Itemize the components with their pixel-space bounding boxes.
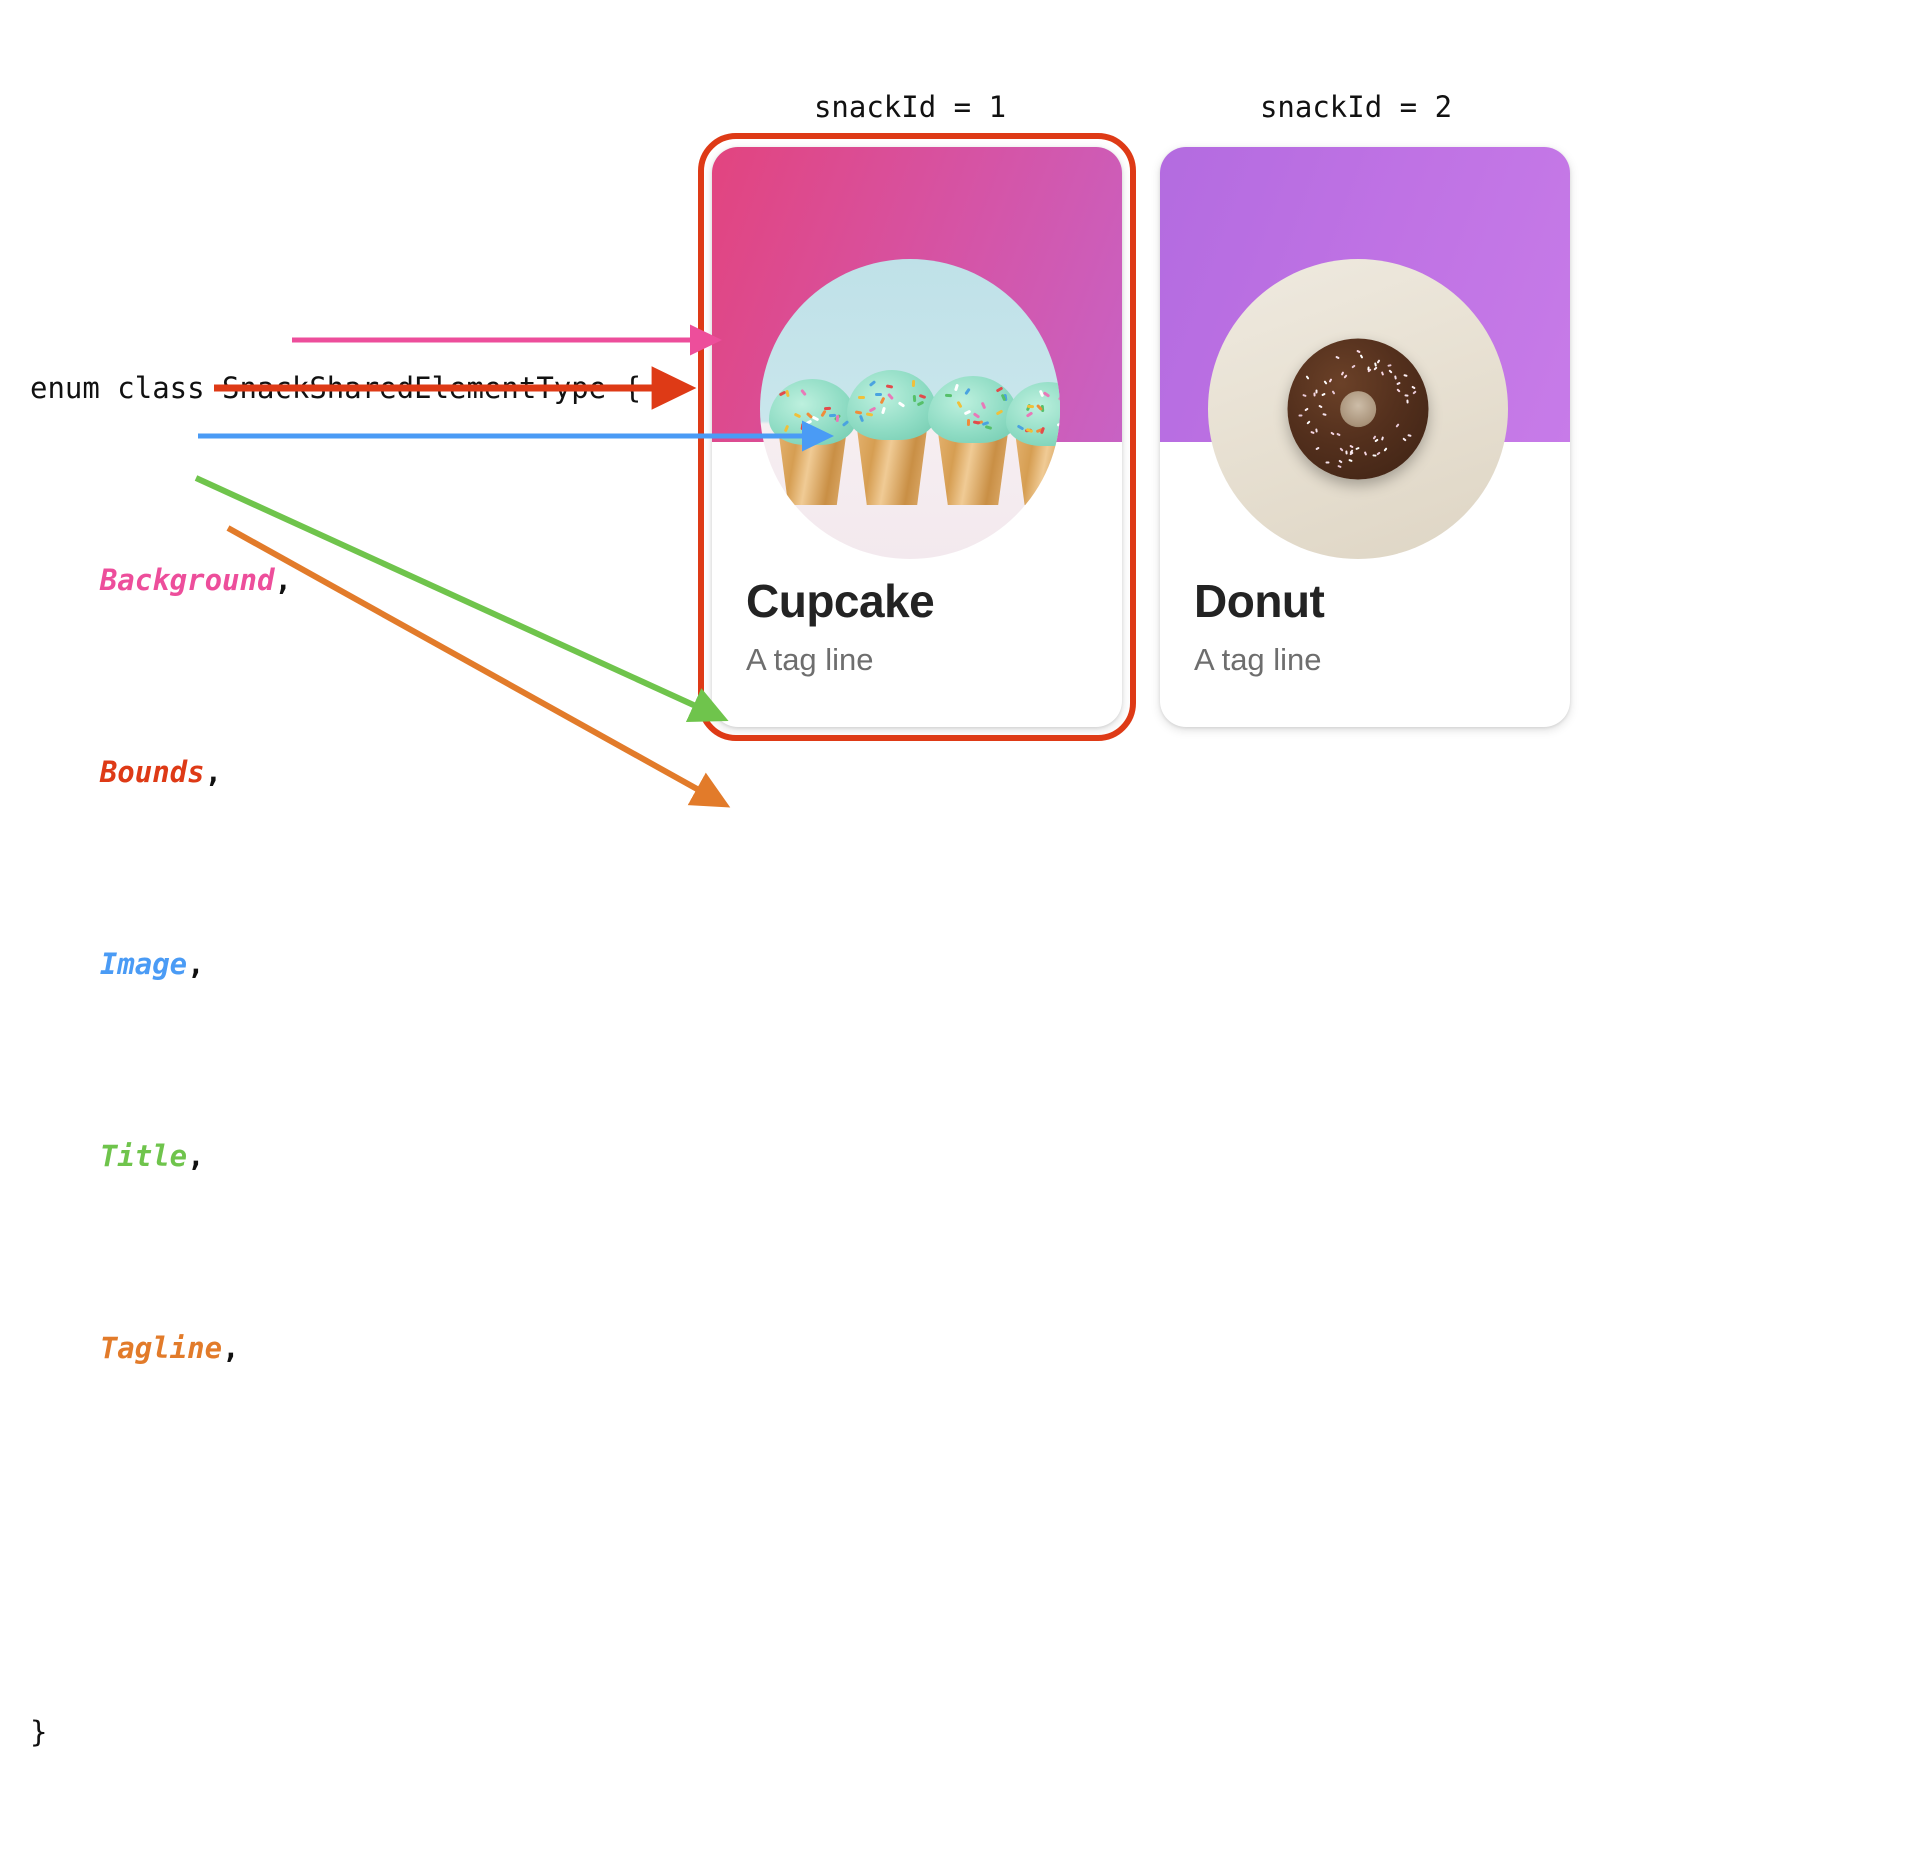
donut-hole-icon bbox=[1340, 391, 1377, 428]
code-indent bbox=[30, 1331, 100, 1365]
sprinkle-icon bbox=[1364, 452, 1367, 456]
sprinkle-icon bbox=[1306, 375, 1310, 379]
code-line-entry-bounds: Bounds, bbox=[30, 748, 641, 796]
sprinkle-icon bbox=[913, 395, 916, 402]
sprinkle-icon bbox=[1026, 428, 1034, 433]
comma-background: , bbox=[274, 563, 291, 597]
sprinkle-icon bbox=[1318, 405, 1322, 409]
sprinkle-icon bbox=[1310, 431, 1314, 434]
code-line-declaration: enum class SnackSharedElementType { bbox=[30, 364, 641, 412]
code-indent bbox=[30, 563, 100, 597]
sprinkle-icon bbox=[1315, 446, 1319, 450]
code-line-entry-title: Title, bbox=[30, 1132, 641, 1180]
sprinkle-icon bbox=[1396, 424, 1400, 428]
sprinkle-icon bbox=[1336, 433, 1340, 437]
sprinkle-icon bbox=[1406, 399, 1408, 403]
code-indent bbox=[30, 1139, 100, 1173]
sprinkle-icon bbox=[806, 427, 813, 431]
sprinkle-icon bbox=[996, 387, 1004, 393]
cupcake-frosting-icon bbox=[847, 370, 938, 440]
sprinkle-icon bbox=[957, 401, 963, 409]
enum-declaration-text: enum class SnackSharedElementType { bbox=[30, 371, 641, 405]
sprinkle-icon bbox=[1306, 420, 1310, 424]
enum-entry-tagline: Tagline bbox=[100, 1331, 222, 1365]
sprinkle-icon bbox=[1321, 392, 1325, 396]
sprinkle-icon bbox=[1389, 369, 1393, 373]
sprinkle-icon bbox=[1413, 391, 1417, 395]
sprinkle-icon bbox=[881, 407, 886, 415]
cupcake-photo-circle bbox=[760, 259, 1060, 559]
code-line-closing-brace: } bbox=[30, 1708, 641, 1756]
sprinkle-icon bbox=[1040, 427, 1045, 435]
sprinkle-icon bbox=[1412, 386, 1416, 390]
sprinkle-icon bbox=[824, 407, 831, 410]
sprinkle-icon bbox=[805, 420, 813, 426]
code-indent bbox=[30, 947, 100, 981]
sprinkle-icon bbox=[1298, 414, 1302, 416]
code-line-entry-background: Background, bbox=[30, 556, 641, 604]
sprinkle-icon bbox=[1396, 382, 1400, 386]
sprinkle-icon bbox=[1381, 437, 1384, 441]
diagram-canvas: enum class SnackSharedElementType { Back… bbox=[0, 0, 1920, 1080]
sprinkle-icon bbox=[1367, 368, 1371, 372]
sprinkle-icon bbox=[1329, 379, 1333, 383]
sprinkle-icon bbox=[1403, 374, 1407, 377]
card-tagline-donut: A tag line bbox=[1194, 643, 1536, 677]
cupcake-photo bbox=[760, 259, 1060, 559]
closing-brace-text: } bbox=[30, 1715, 47, 1749]
sprinkle-icon bbox=[1058, 394, 1060, 401]
sprinkle-icon bbox=[973, 413, 980, 419]
code-block: enum class SnackSharedElementType { Back… bbox=[30, 268, 641, 1852]
comma-image: , bbox=[187, 947, 204, 981]
sprinkle-icon bbox=[1305, 407, 1309, 411]
sprinkle-icon bbox=[945, 394, 952, 397]
sprinkle-icon bbox=[1383, 447, 1387, 451]
sprinkle-icon bbox=[1026, 411, 1033, 417]
sprinkle-icon bbox=[880, 397, 886, 405]
sprinkle-icon bbox=[954, 384, 959, 392]
sprinkle-icon bbox=[869, 380, 876, 387]
code-line-entry-tagline: Tagline, bbox=[30, 1324, 641, 1372]
sprinkle-icon bbox=[1381, 372, 1384, 376]
sprinkle-icon bbox=[866, 413, 873, 417]
sprinkle-icon bbox=[857, 396, 864, 399]
sprinkle-icon bbox=[1394, 375, 1397, 379]
sprinkle-icon bbox=[1402, 437, 1406, 441]
sprinkle-icon bbox=[1345, 450, 1347, 454]
sprinkle-icon bbox=[1331, 391, 1335, 395]
sprinkle-icon bbox=[1340, 371, 1344, 375]
snack-id-label-2: snackId = 2 bbox=[1256, 90, 1456, 124]
sprinkle-icon bbox=[820, 410, 826, 418]
sprinkle-icon bbox=[875, 393, 882, 396]
sprinkle-icon bbox=[800, 423, 804, 430]
sprinkle-icon bbox=[1338, 464, 1342, 467]
sprinkle-icon bbox=[1323, 413, 1327, 416]
snack-card-cupcake[interactable]: Cupcake A tag line bbox=[712, 147, 1122, 727]
sprinkle-icon bbox=[919, 394, 927, 399]
sprinkle-icon bbox=[984, 425, 992, 430]
snack-card-donut[interactable]: Donut A tag line bbox=[1160, 147, 1570, 727]
sprinkle-icon bbox=[996, 409, 1004, 415]
sprinkle-icon bbox=[886, 384, 893, 388]
cupcake-frosting-icon bbox=[769, 379, 856, 445]
sprinkle-icon bbox=[898, 402, 905, 408]
comma-tagline: , bbox=[222, 1331, 239, 1365]
sprinkle-icon bbox=[1351, 364, 1355, 368]
donut-photo-circle bbox=[1208, 259, 1508, 559]
sprinkle-icon bbox=[1017, 425, 1025, 431]
sprinkle-icon bbox=[869, 406, 877, 412]
sprinkle-icon bbox=[981, 401, 987, 409]
enum-entry-title: Title bbox=[100, 1139, 187, 1173]
sprinkle-icon bbox=[1335, 356, 1339, 360]
cupcake-frosting-icon bbox=[928, 376, 1019, 443]
code-indent bbox=[30, 755, 100, 789]
sprinkle-icon bbox=[1056, 422, 1060, 426]
cupcake-frosting-icon bbox=[1006, 382, 1060, 446]
sprinkle-icon bbox=[1350, 444, 1354, 448]
code-line-blank bbox=[30, 1516, 641, 1564]
sprinkle-icon bbox=[1397, 389, 1401, 393]
sprinkle-icon bbox=[1356, 447, 1360, 450]
sprinkle-icon bbox=[1377, 359, 1381, 363]
sprinkle-icon bbox=[1405, 395, 1409, 397]
sprinkle-icon bbox=[917, 401, 925, 407]
sprinkle-icon bbox=[812, 416, 820, 422]
sprinkle-icon bbox=[1331, 432, 1335, 436]
sprinkle-icon bbox=[1338, 460, 1342, 464]
sprinkle-icon bbox=[1356, 350, 1360, 354]
card-tagline-cupcake: A tag line bbox=[746, 643, 1088, 677]
comma-bounds: , bbox=[205, 755, 222, 789]
sprinkle-icon bbox=[1387, 364, 1391, 367]
card-title-donut: Donut bbox=[1194, 577, 1536, 625]
sprinkle-icon bbox=[794, 413, 802, 419]
enum-entry-image: Image bbox=[100, 947, 187, 981]
code-line-entry-image: Image, bbox=[30, 940, 641, 988]
sprinkle-icon bbox=[1407, 434, 1411, 437]
sprinkle-icon bbox=[1374, 366, 1378, 370]
sprinkle-icon bbox=[967, 419, 970, 426]
sprinkle-icon bbox=[1316, 428, 1319, 432]
sprinkle-icon bbox=[1348, 459, 1352, 462]
sprinkle-icon bbox=[785, 390, 789, 397]
sprinkle-icon bbox=[1325, 461, 1329, 463]
donut-photo bbox=[1208, 259, 1508, 559]
sprinkle-icon bbox=[1360, 354, 1364, 358]
sprinkle-icon bbox=[1344, 375, 1348, 379]
sprinkle-icon bbox=[1316, 390, 1318, 394]
comma-title: , bbox=[187, 1139, 204, 1173]
donut-ring-icon bbox=[1288, 339, 1429, 480]
sprinkle-icon bbox=[1043, 391, 1050, 397]
sprinkle-icon bbox=[1323, 380, 1327, 384]
card-title-cupcake: Cupcake bbox=[746, 577, 1088, 625]
sprinkle-icon bbox=[801, 389, 808, 396]
snack-id-label-1: snackId = 1 bbox=[810, 90, 1010, 124]
sprinkle-icon bbox=[887, 393, 894, 400]
sprinkle-icon bbox=[784, 425, 789, 433]
sprinkle-icon bbox=[1374, 439, 1378, 443]
enum-entry-bounds: Bounds bbox=[100, 755, 205, 789]
sprinkle-icon bbox=[1303, 394, 1307, 397]
sprinkle-icon bbox=[1340, 447, 1344, 451]
sprinkle-icon bbox=[1377, 452, 1381, 456]
enum-entry-background: Background bbox=[100, 563, 275, 597]
sprinkle-icon bbox=[964, 388, 970, 395]
card-body-cupcake: Cupcake A tag line bbox=[712, 577, 1122, 677]
sprinkle-icon bbox=[912, 380, 915, 387]
sprinkle-icon bbox=[963, 409, 971, 415]
card-body-donut: Donut A tag line bbox=[1160, 577, 1570, 677]
sprinkle-icon bbox=[858, 415, 863, 423]
